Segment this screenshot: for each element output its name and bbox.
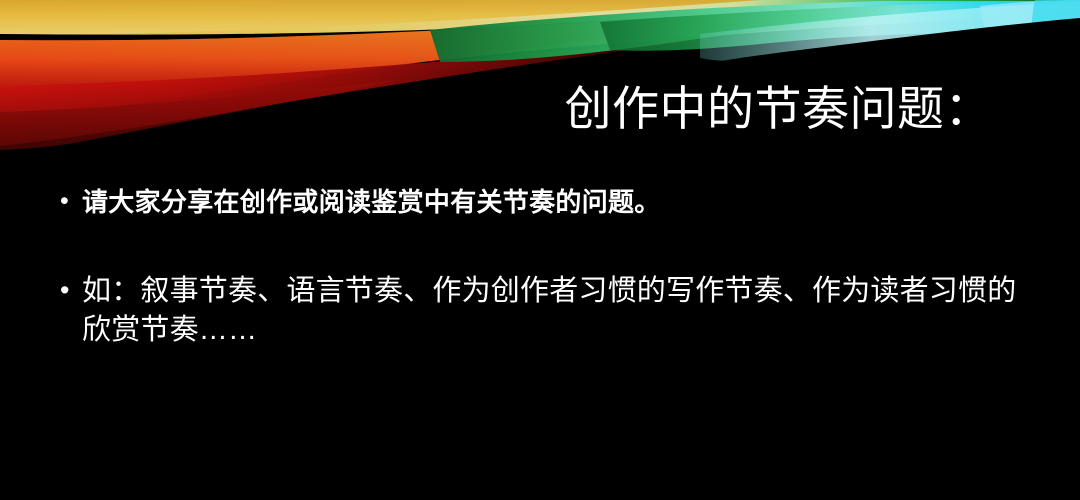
banner-split-line	[0, 2, 1080, 43]
bullet-text-1: 请大家分享在创作或阅读鉴赏中有关节奏的问题。	[82, 185, 1040, 220]
presentation-slide: 创作中的节奏问题： • 请大家分享在创作或阅读鉴赏中有关节奏的问题。 • 如：叙…	[0, 0, 1080, 500]
bullet-marker-icon: •	[60, 272, 82, 308]
bullet-marker-icon: •	[60, 185, 82, 219]
banner-cool-ribbon-2	[600, 0, 1080, 51]
slide-title: 创作中的节奏问题：	[565, 82, 993, 136]
banner-cyan-highlight	[700, 2, 1080, 61]
banner-cyan-edge	[980, 0, 1080, 74]
bullet-item-1: • 请大家分享在创作或阅读鉴赏中有关节奏的问题。	[60, 185, 1040, 220]
banner-cyan-edge-2	[1032, 0, 1080, 72]
banner-cool-ribbon	[430, 1, 1080, 62]
body-content: • 请大家分享在创作或阅读鉴赏中有关节奏的问题。 • 如：叙事节奏、语言节奏、作…	[60, 185, 1040, 350]
banner-top-sliver-warm	[0, 0, 760, 35]
bullet-text-2: 如：叙事节奏、语言节奏、作为创作者习惯的写作节奏、作为读者习惯的欣赏节奏……	[82, 272, 1040, 350]
banner-top-sliver	[0, 0, 1080, 35]
bullet-item-2: • 如：叙事节奏、语言节奏、作为创作者习惯的写作节奏、作为读者习惯的欣赏节奏……	[60, 272, 1040, 350]
title-container: 创作中的节奏问题：	[0, 82, 1080, 136]
